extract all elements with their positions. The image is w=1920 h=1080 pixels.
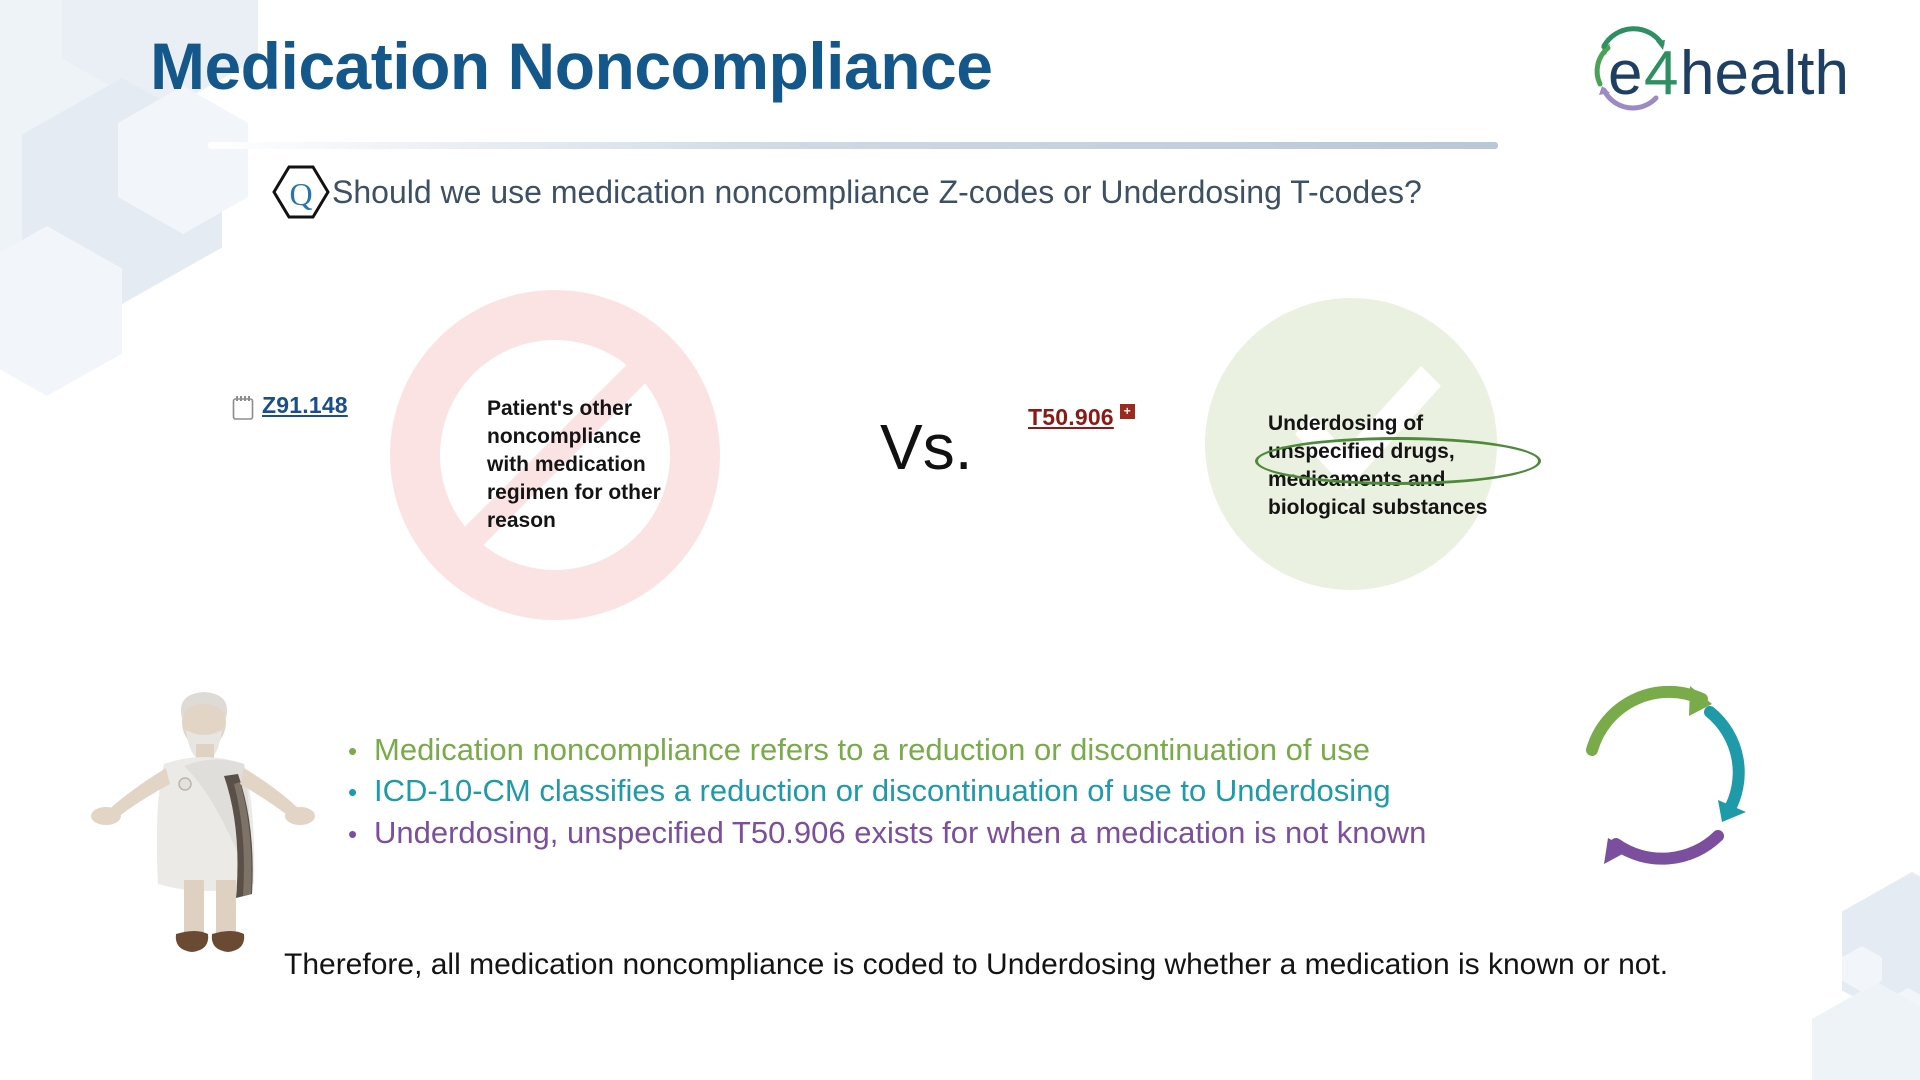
hexagon-shape	[118, 86, 248, 234]
question-text: Should we use medication noncompliance Z…	[332, 174, 1422, 211]
bullet-list: • Medication noncompliance refers to a r…	[348, 733, 1598, 857]
hexagon-shape	[1848, 988, 1920, 1080]
left-code-link[interactable]: Z91.148	[262, 392, 348, 419]
bullet-text: Medication noncompliance refers to a red…	[374, 733, 1370, 766]
e4health-logo: e 4 health	[1570, 22, 1870, 114]
greek-philosopher-image	[88, 688, 318, 978]
hexagon-shape	[1842, 872, 1920, 1030]
vs-label: Vs.	[880, 410, 972, 484]
svg-text:health: health	[1680, 39, 1849, 108]
note-icon	[232, 395, 254, 421]
hexagon-shape	[0, 0, 130, 145]
bullet-marker: •	[348, 779, 374, 805]
cycle-arrows-graphic	[1578, 676, 1778, 871]
hexagon-shape	[22, 78, 222, 304]
list-item: • ICD-10-CM classifies a reduction or di…	[348, 774, 1598, 807]
right-code-block[interactable]: T50.906 +	[1028, 404, 1135, 431]
left-code-description: Patient's other noncompliance with medic…	[487, 395, 677, 535]
svg-text:e: e	[1608, 39, 1642, 108]
hexagon-shape	[1812, 982, 1920, 1080]
bullet-marker: •	[348, 738, 374, 764]
svg-text:Q: Q	[289, 176, 312, 212]
list-item: • Underdosing, unspecified T50.906 exist…	[348, 816, 1598, 849]
title-divider	[208, 142, 1498, 149]
bullet-marker: •	[348, 821, 374, 847]
left-code-block[interactable]: Z91.148	[232, 392, 348, 421]
svg-text:4: 4	[1644, 39, 1678, 108]
hexagon-shape	[1842, 946, 1882, 992]
highlight-ellipse	[1255, 437, 1541, 485]
question-row: Q Should we use medication noncompliance…	[272, 165, 1422, 219]
question-badge-icon: Q	[272, 165, 330, 219]
list-item: • Medication noncompliance refers to a r…	[348, 733, 1598, 766]
bullet-text: ICD-10-CM classifies a reduction or disc…	[374, 774, 1391, 807]
page-title: Medication Noncompliance	[150, 28, 992, 104]
conclusion-text: Therefore, all medication noncompliance …	[284, 948, 1668, 982]
right-code-link[interactable]: T50.906	[1028, 404, 1114, 431]
slide-canvas: Medication Noncompliance e 4 health Q Sh…	[0, 0, 1920, 1080]
bullet-text: Underdosing, unspecified T50.906 exists …	[374, 816, 1426, 849]
hexagon-shape	[0, 72, 128, 296]
plus-badge-icon: +	[1120, 404, 1135, 419]
